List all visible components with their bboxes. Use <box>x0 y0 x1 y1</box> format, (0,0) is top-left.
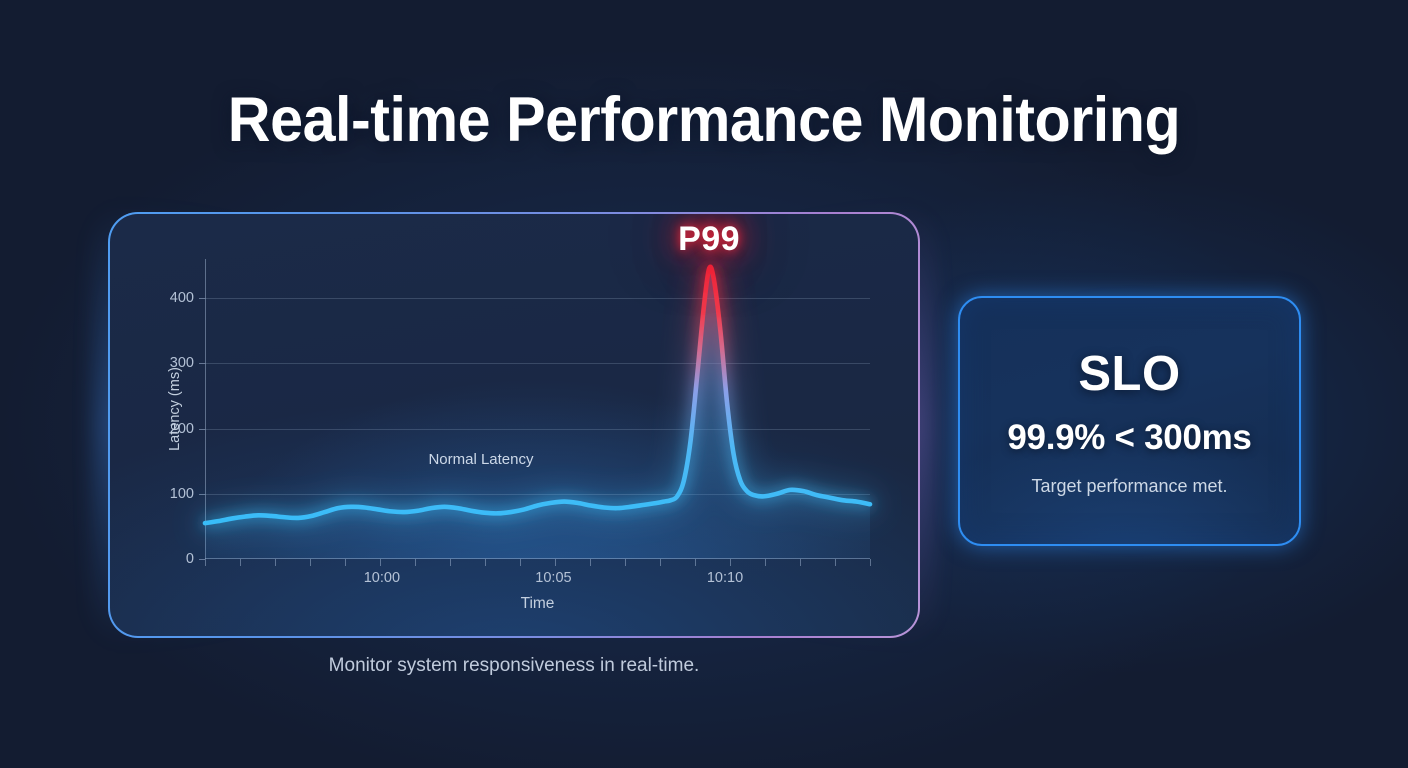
x-tick-mark <box>660 559 661 566</box>
latency-line-series <box>205 259 870 559</box>
x-tick-mark <box>415 559 416 566</box>
x-tick-mark <box>240 559 241 566</box>
normal-latency-annotation: Normal Latency <box>428 451 533 468</box>
y-axis-title: Latency (ms) <box>167 367 183 451</box>
x-tick-mark <box>590 559 591 566</box>
x-tick-mark <box>380 559 381 566</box>
x-tick-mark <box>345 559 346 566</box>
x-tick-label: 10:10 <box>707 570 743 586</box>
page-title: Real-time Performance Monitoring <box>42 84 1366 156</box>
x-tick-mark <box>695 559 696 566</box>
x-tick-mark <box>205 559 206 566</box>
slo-value: 99.9% < 300ms <box>1007 418 1251 458</box>
slo-title: SLO <box>1078 346 1180 402</box>
chart-caption: Monitor system responsiveness in real-ti… <box>108 655 920 677</box>
x-tick-mark <box>275 559 276 566</box>
x-tick-mark <box>870 559 871 566</box>
y-tick-label: 100 <box>170 486 194 502</box>
chart-panel: 0100200300400 10:0010:0510:10 <box>108 212 920 638</box>
x-tick-mark <box>310 559 311 566</box>
x-tick-mark <box>835 559 836 566</box>
x-tick-mark <box>485 559 486 566</box>
y-tick-label: 0 <box>186 551 194 567</box>
y-tick-label: 400 <box>170 290 194 306</box>
x-tick-mark <box>520 559 521 566</box>
p99-peak-label: P99 <box>678 220 740 259</box>
x-tick-label: 10:00 <box>364 570 400 586</box>
x-tick-mark <box>765 559 766 566</box>
slo-subtitle: Target performance met. <box>1031 476 1227 497</box>
slo-card: SLO 99.9% < 300ms Target performance met… <box>958 296 1301 546</box>
x-tick-label: 10:05 <box>535 570 571 586</box>
x-tick-mark <box>625 559 626 566</box>
x-axis-title: Time <box>205 595 870 613</box>
x-tick-mark <box>730 559 731 566</box>
x-tick-mark <box>555 559 556 566</box>
x-tick-mark <box>800 559 801 566</box>
x-tick-mark <box>450 559 451 566</box>
latency-chart-plot-area: 0100200300400 10:0010:0510:10 <box>205 259 870 559</box>
